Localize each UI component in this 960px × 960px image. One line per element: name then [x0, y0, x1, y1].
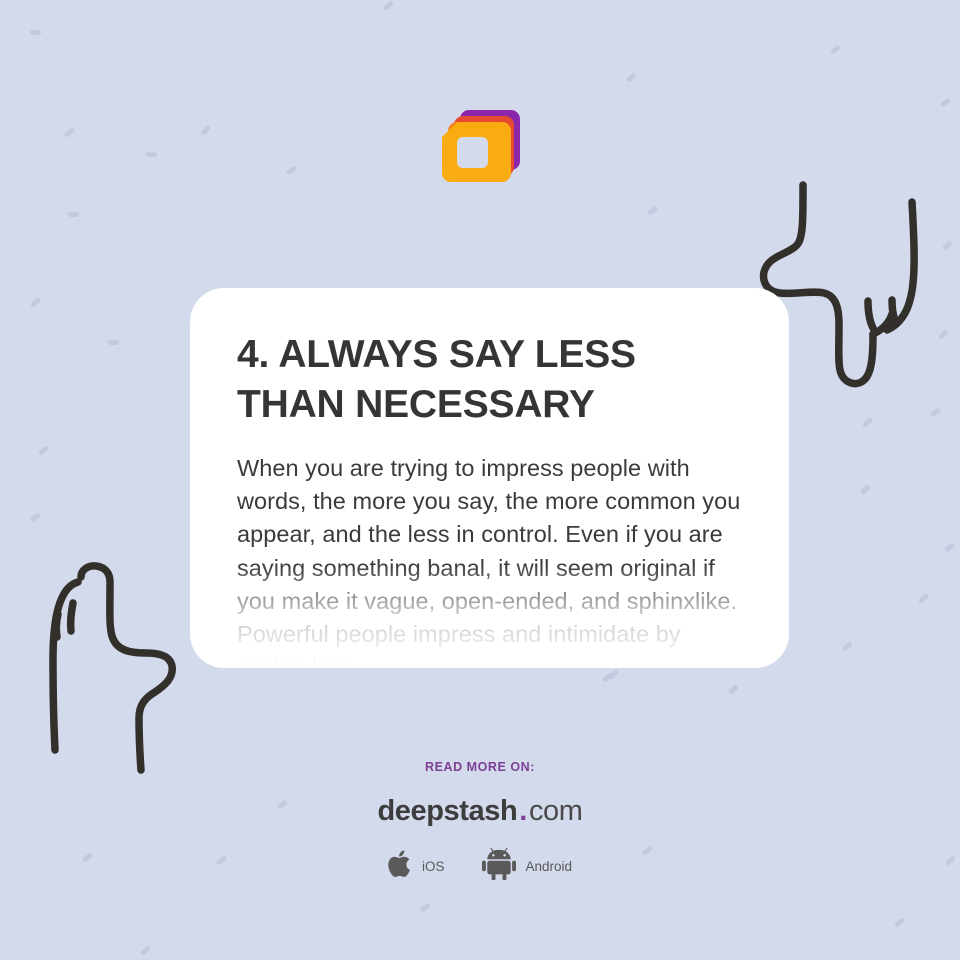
footer: READ MORE ON: deepstash.com iOS: [0, 760, 960, 885]
confetti-dash: [140, 945, 152, 956]
confetti-dash: [830, 44, 842, 55]
hand-pointing-up-illustration: [22, 560, 202, 787]
confetti-dash: [420, 902, 432, 913]
confetti-dash: [68, 212, 79, 217]
apple-icon: [388, 849, 413, 884]
confetti-dash: [286, 165, 298, 176]
confetti-dash: [647, 205, 659, 216]
wordmark-dot: .: [517, 795, 529, 827]
ios-store-badge[interactable]: iOS: [388, 849, 445, 884]
confetti-dash: [38, 445, 50, 456]
confetti-dash: [146, 152, 157, 157]
confetti-dash: [383, 0, 395, 11]
deepstash-wordmark[interactable]: deepstash.com: [0, 795, 960, 828]
android-icon: [482, 848, 516, 885]
card-body-text: When you are trying to impress people wi…: [237, 452, 741, 668]
confetti-dash: [200, 125, 211, 137]
confetti-dash: [30, 30, 41, 35]
confetti-dash: [930, 407, 942, 418]
confetti-dash: [944, 542, 956, 553]
read-more-label: READ MORE ON:: [0, 760, 960, 774]
deepstash-cube-logo: [434, 104, 526, 196]
confetti-dash: [626, 72, 638, 83]
confetti-dash: [608, 669, 620, 680]
confetti-dash: [842, 641, 854, 652]
android-badge-label: Android: [525, 859, 572, 874]
ios-badge-label: iOS: [422, 859, 445, 874]
confetti-dash: [602, 672, 614, 683]
android-store-badge[interactable]: Android: [482, 848, 572, 885]
idea-card[interactable]: 4. ALWAYS SAY LESS THAN NECESSARY When y…: [190, 288, 789, 668]
confetti-dash: [64, 127, 76, 138]
card-body-wrapper: When you are trying to impress people wi…: [237, 452, 741, 668]
card-title: 4. ALWAYS SAY LESS THAN NECESSARY: [237, 330, 741, 430]
confetti-dash: [862, 417, 874, 428]
wordmark-name: deepstash: [377, 795, 517, 827]
wordmark-tld: com: [529, 795, 583, 827]
confetti-dash: [918, 593, 930, 604]
confetti-dash: [860, 484, 871, 495]
confetti-dash: [728, 684, 740, 695]
logo-inner-cutout: [457, 137, 488, 168]
store-badges: iOS Android: [0, 848, 960, 885]
confetti-dash: [942, 240, 953, 251]
confetti-dash: [940, 97, 952, 107]
confetti-dash: [30, 512, 42, 523]
confetti-dash: [894, 917, 906, 928]
confetti-dash: [108, 340, 119, 345]
confetti-dash: [938, 329, 949, 340]
confetti-dash: [30, 297, 42, 308]
